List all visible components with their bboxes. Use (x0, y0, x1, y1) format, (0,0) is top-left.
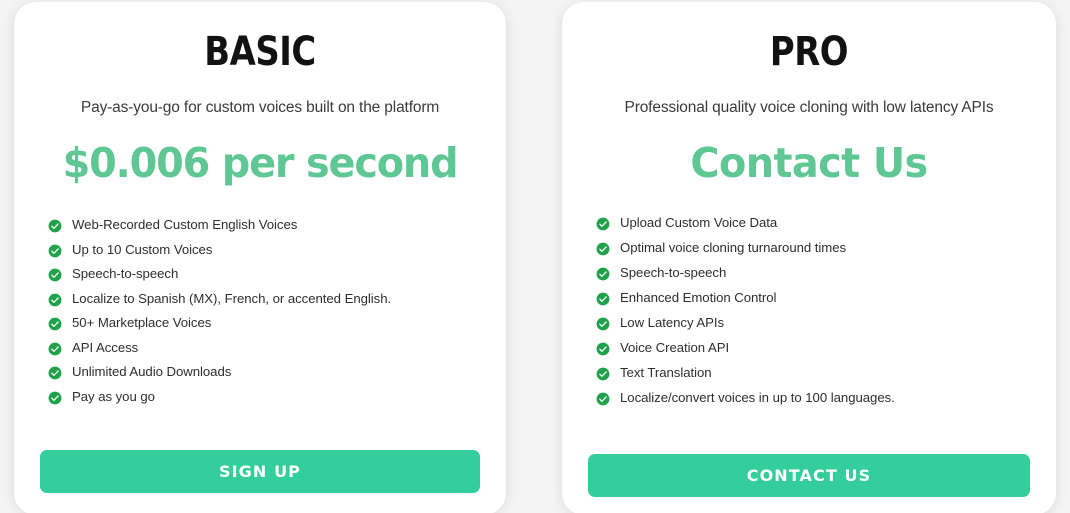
check-circle-icon (48, 219, 62, 233)
check-circle-icon (48, 391, 62, 405)
feature-label: Unlimited Audio Downloads (72, 365, 231, 379)
sign-up-button[interactable]: SIGN UP (40, 450, 480, 493)
check-circle-icon (48, 244, 62, 258)
feature-item: Low Latency APIs (596, 316, 1030, 331)
feature-list-pro: Upload Custom Voice Data Optimal voice c… (588, 216, 1030, 454)
feature-label: Upload Custom Voice Data (620, 216, 777, 230)
feature-item: Unlimited Audio Downloads (48, 365, 480, 380)
plan-price-pro: Contact Us (595, 143, 1024, 184)
feature-label: Voice Creation API (620, 341, 729, 355)
feature-item: Web-Recorded Custom English Voices (48, 218, 480, 233)
plan-subtitle-basic: Pay-as-you-go for custom voices built on… (40, 98, 480, 117)
check-circle-icon (596, 317, 610, 331)
feature-label: Pay as you go (72, 390, 155, 404)
check-circle-icon (596, 267, 610, 281)
feature-item: Up to 10 Custom Voices (48, 243, 480, 258)
feature-label: 50+ Marketplace Voices (72, 316, 211, 330)
feature-item: Speech-to-speech (48, 267, 480, 282)
feature-item: Speech-to-speech (596, 266, 1030, 281)
contact-us-button[interactable]: CONTACT US (588, 454, 1030, 497)
feature-item: Voice Creation API (596, 341, 1030, 356)
feature-item: Text Translation (596, 366, 1030, 381)
feature-item: Localize/convert voices in up to 100 lan… (596, 391, 1030, 406)
feature-label: Localize/convert voices in up to 100 lan… (620, 391, 895, 405)
check-circle-icon (596, 292, 610, 306)
feature-item: Optimal voice cloning turnaround times (596, 241, 1030, 256)
feature-item: 50+ Marketplace Voices (48, 316, 480, 331)
plan-title-basic: BASIC (53, 32, 467, 72)
feature-item: API Access (48, 341, 480, 356)
check-circle-icon (48, 366, 62, 380)
feature-label: Enhanced Emotion Control (620, 291, 776, 305)
feature-label: Web-Recorded Custom English Voices (72, 218, 297, 232)
feature-label: API Access (72, 341, 138, 355)
feature-item: Pay as you go (48, 390, 480, 405)
feature-label: Text Translation (620, 366, 712, 380)
check-circle-icon (596, 367, 610, 381)
feature-label: Speech-to-speech (72, 267, 178, 281)
feature-label: Low Latency APIs (620, 316, 724, 330)
plan-title-pro: PRO (601, 32, 1016, 72)
check-circle-icon (48, 293, 62, 307)
feature-list-basic: Web-Recorded Custom English Voices Up to… (40, 218, 480, 450)
feature-label: Up to 10 Custom Voices (72, 243, 212, 257)
feature-item: Upload Custom Voice Data (596, 216, 1030, 231)
feature-label: Localize to Spanish (MX), French, or acc… (72, 292, 391, 306)
check-circle-icon (596, 392, 610, 406)
check-circle-icon (48, 317, 62, 331)
pricing-card-basic: BASIC Pay-as-you-go for custom voices bu… (14, 2, 506, 513)
pricing-plans-container: BASIC Pay-as-you-go for custom voices bu… (0, 0, 1070, 513)
check-circle-icon (596, 242, 610, 256)
feature-item: Enhanced Emotion Control (596, 291, 1030, 306)
feature-label: Optimal voice cloning turnaround times (620, 241, 846, 255)
plan-price-basic: $0.006 per second (47, 143, 474, 184)
check-circle-icon (596, 342, 610, 356)
feature-label: Speech-to-speech (620, 266, 726, 280)
plan-subtitle-pro: Professional quality voice cloning with … (588, 98, 1030, 117)
check-circle-icon (596, 217, 610, 231)
pricing-card-pro: PRO Professional quality voice cloning w… (562, 2, 1056, 513)
feature-item: Localize to Spanish (MX), French, or acc… (48, 292, 480, 307)
check-circle-icon (48, 342, 62, 356)
check-circle-icon (48, 268, 62, 282)
